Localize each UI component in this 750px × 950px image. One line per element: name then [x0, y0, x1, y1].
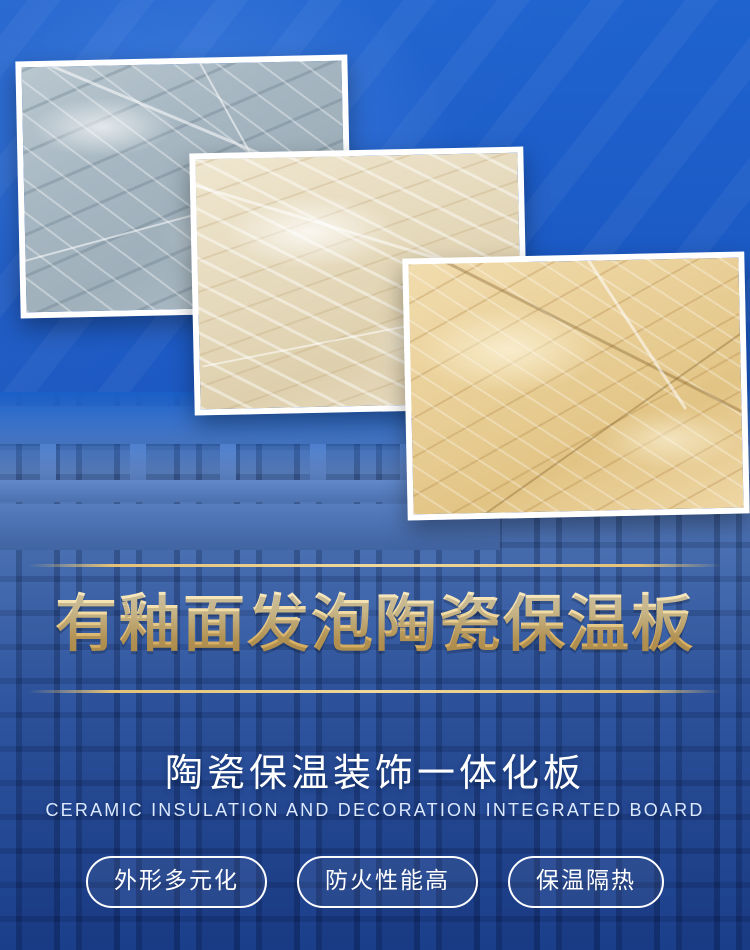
- product-poster: 有釉面发泡陶瓷保温板 有釉面发泡陶瓷保温板 陶瓷保温装饰一体化板 CERAMIC…: [0, 0, 750, 950]
- product-headline: 有釉面发泡陶瓷保温板: [0, 572, 750, 676]
- subtitle-english: CERAMIC INSULATION AND DECORATION INTEGR…: [0, 800, 750, 821]
- feature-pill-row: 外形多元化 防火性能高 保温隔热: [0, 856, 750, 908]
- tile-sample-gold: [402, 251, 749, 520]
- feature-pill: 保温隔热: [508, 856, 664, 908]
- divider-bottom: [28, 690, 722, 693]
- headline-area: 有釉面发泡陶瓷保温板 有釉面发泡陶瓷保温板: [0, 572, 750, 682]
- subtitle-chinese: 陶瓷保温装饰一体化板: [0, 742, 750, 797]
- feature-pill: 外形多元化: [86, 856, 267, 908]
- divider-top: [28, 564, 722, 567]
- feature-pill: 防火性能高: [297, 856, 478, 908]
